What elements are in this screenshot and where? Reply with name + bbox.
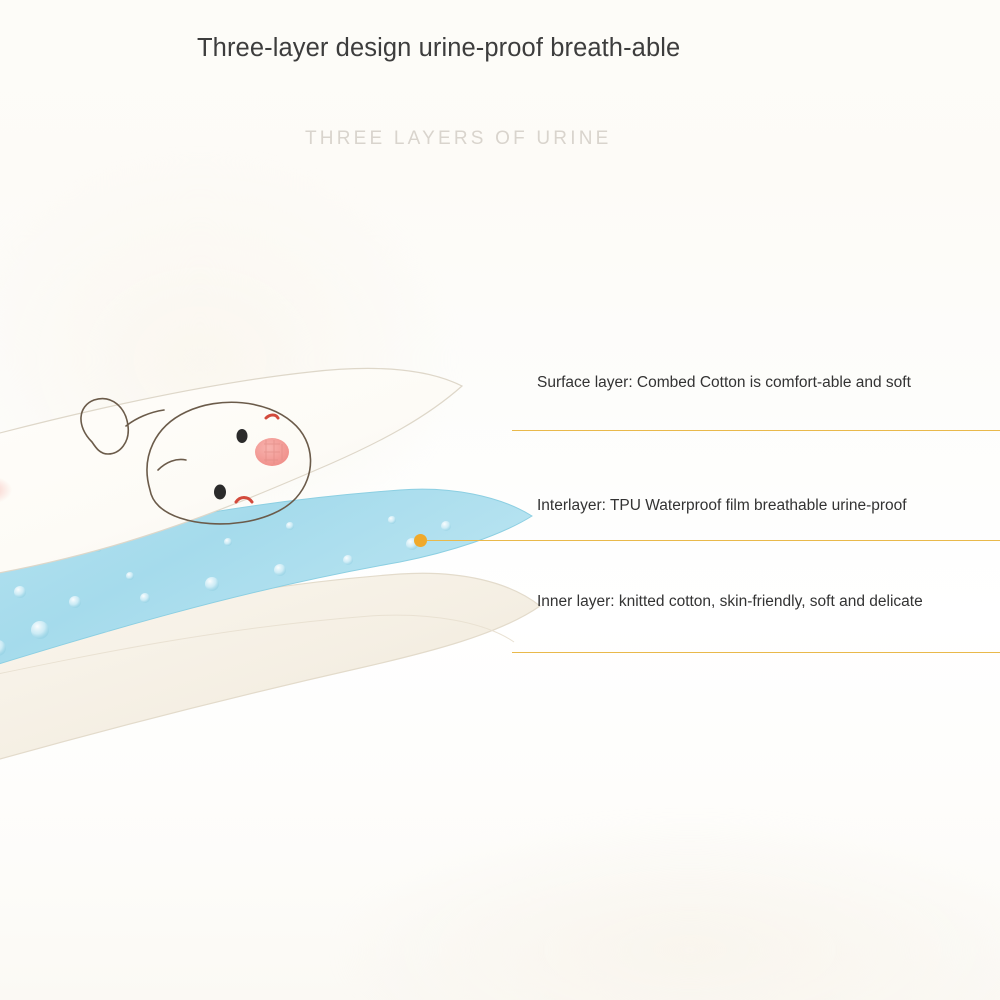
callout-interlayer-marker-dot xyxy=(414,534,427,547)
callout-inner-label: Inner layer: knitted cotton, skin-friend… xyxy=(537,591,977,613)
callout-interlayer-label: Interlayer: TPU Waterproof film breathab… xyxy=(537,495,987,517)
page-root: Three-layer design urine-proof breath-ab… xyxy=(0,0,1000,1000)
callout-surface-leader-line xyxy=(512,430,1000,431)
three-layer-illustration xyxy=(0,330,580,800)
background-blur-bottom xyxy=(340,820,1000,1000)
callout-surface-label: Surface layer: Combed Cotton is comfort-… xyxy=(537,372,957,394)
callout-interlayer-leader-line xyxy=(427,540,1000,541)
page-title: Three-layer design urine-proof breath-ab… xyxy=(197,30,737,66)
callout-inner-leader-line xyxy=(512,652,1000,653)
page-subtitle: THREE LAYERS OF URINE xyxy=(305,128,725,150)
